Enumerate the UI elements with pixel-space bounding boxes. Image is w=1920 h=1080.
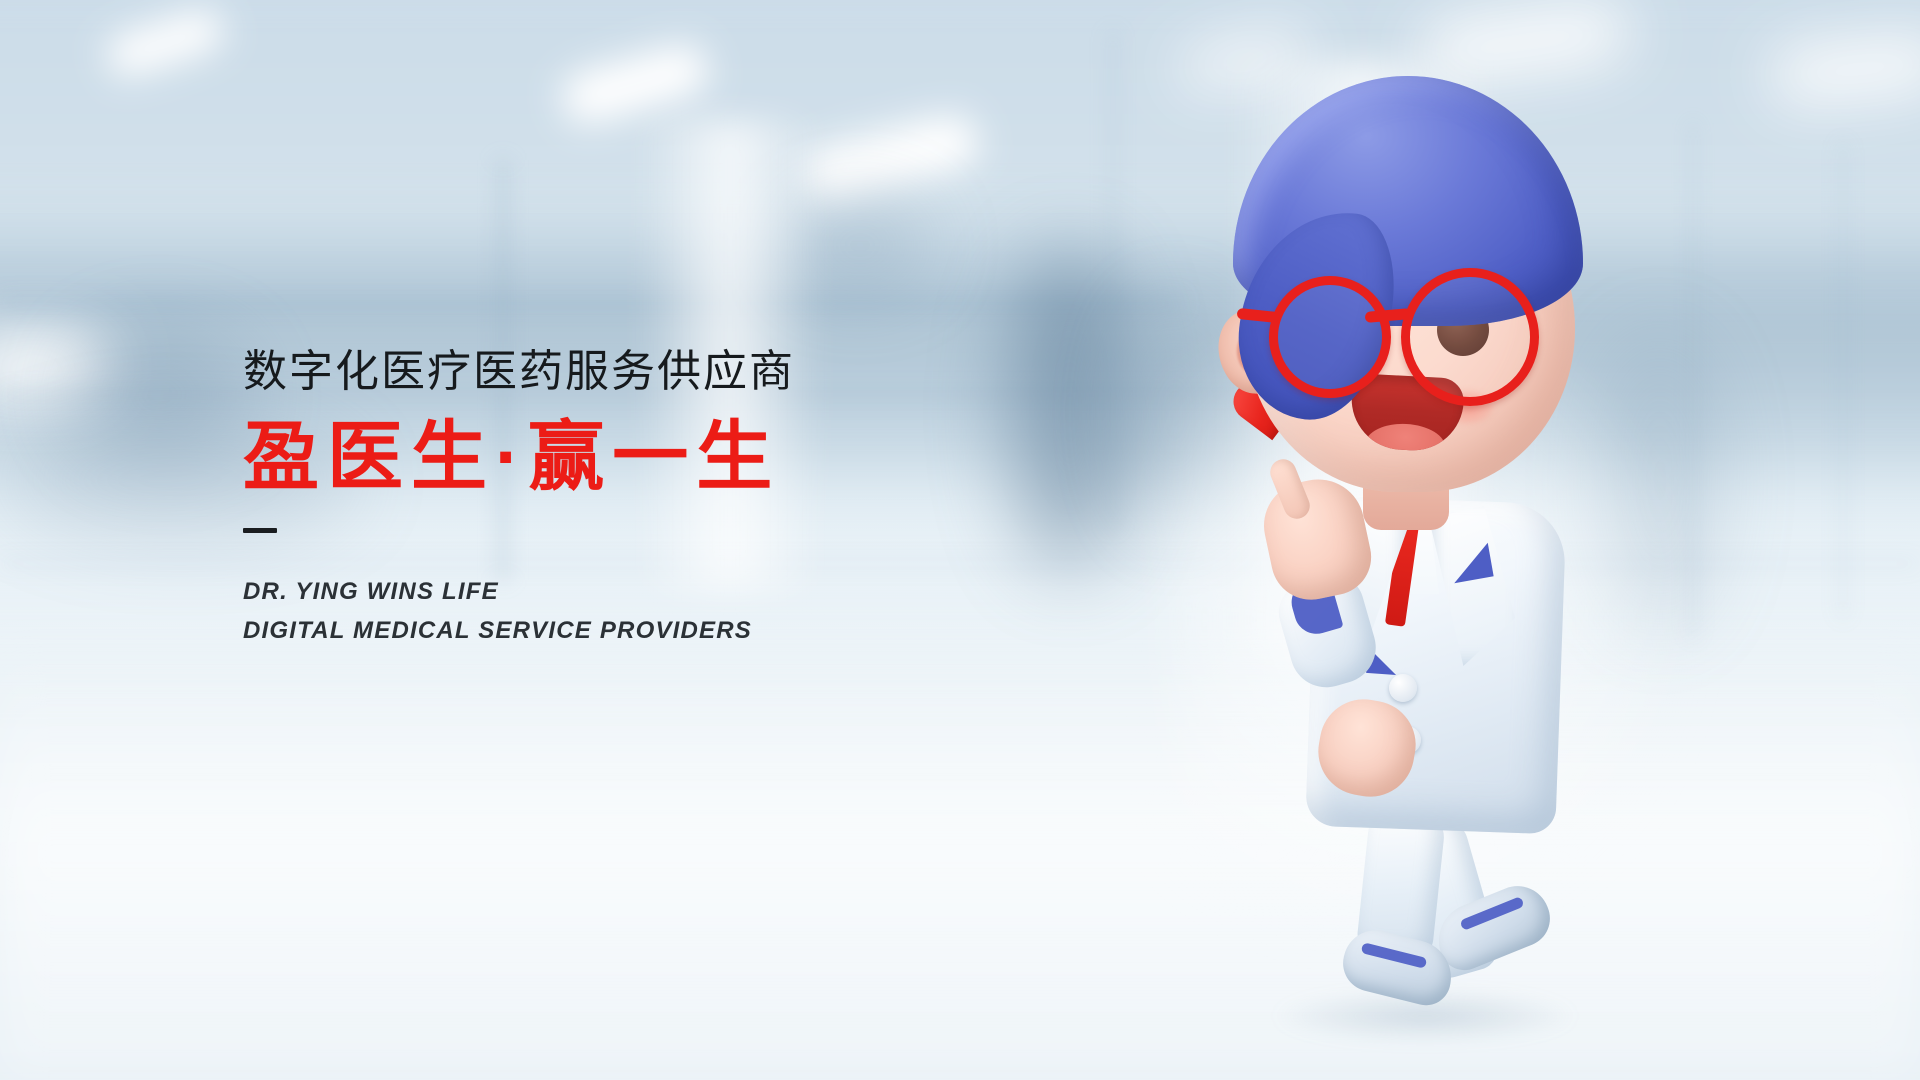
- tongue: [1364, 422, 1446, 453]
- coat-button: [1389, 674, 1417, 702]
- doctor-mascot-illustration: [1215, 60, 1635, 1050]
- blurred-person: [1010, 250, 1130, 570]
- subtitle-block: DR. YING WINS LIFE DIGITAL MEDICAL SERVI…: [243, 573, 795, 651]
- divider-rule: [243, 528, 277, 533]
- subtitle-line-2: DIGITAL MEDICAL SERVICE PROVIDERS: [243, 612, 795, 651]
- page-title: 盈医生·赢一生: [243, 415, 795, 500]
- kicker-text: 数字化医疗医药服务供应商: [243, 345, 795, 399]
- pillar-line: [1840, 140, 1846, 620]
- coat-accent-triangle: [1448, 543, 1493, 583]
- hero-banner: 数字化医疗医药服务供应商 盈医生·赢一生 DR. YING WINS LIFE …: [0, 0, 1920, 1080]
- ceiling-edge-line: [0, 300, 1180, 307]
- glasses-lens-left: [1269, 276, 1391, 398]
- blurred-person: [1130, 300, 1220, 530]
- glasses-lens-right: [1401, 268, 1539, 406]
- subtitle-line-1: DR. YING WINS LIFE: [243, 573, 795, 612]
- hero-copy: 数字化医疗医药服务供应商 盈医生·赢一生 DR. YING WINS LIFE …: [243, 345, 795, 651]
